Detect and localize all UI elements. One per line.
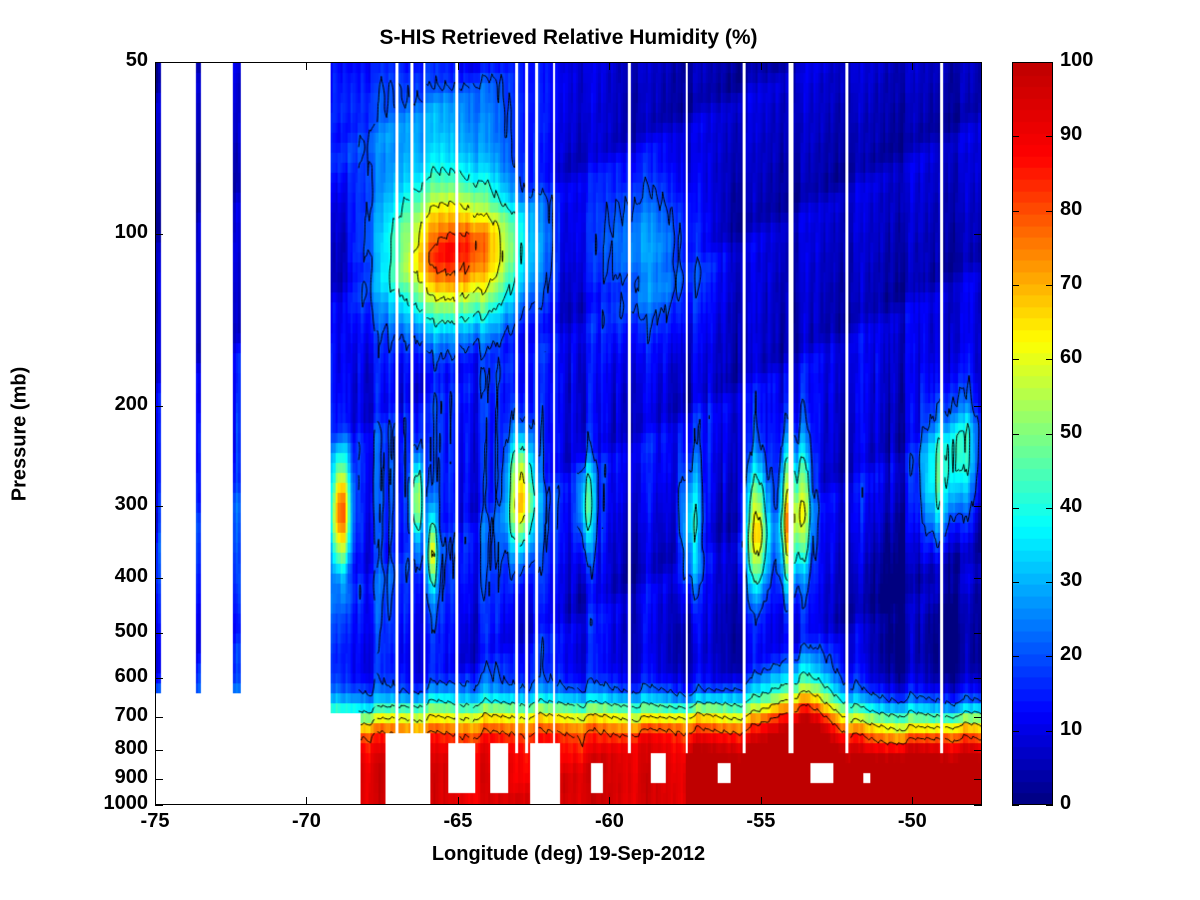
colorbar-tick-mark (1046, 731, 1053, 732)
y-tick-mark (155, 633, 163, 634)
x-tick-mark (155, 797, 156, 805)
colorbar-tick-mark (1012, 136, 1019, 137)
y-tick-mark (155, 506, 163, 507)
y-tick-label: 600 (28, 665, 148, 688)
x-tick-label: -65 (408, 810, 508, 833)
colorbar-tick-label: 70 (1060, 272, 1082, 295)
x-axis-label: Longitude (deg) 19-Sep-2012 (155, 843, 982, 866)
y-axis-label: Pressure (mb) (9, 367, 32, 502)
colorbar-tick-mark (1046, 285, 1053, 286)
x-tick-mark (155, 62, 156, 70)
colorbar-tick-mark (1012, 656, 1019, 657)
x-tick-mark (912, 797, 913, 805)
colorbar-tick-mark (1012, 359, 1019, 360)
colorbar-tick-label: 20 (1060, 643, 1082, 666)
y-tick-mark (974, 406, 982, 407)
y-tick-mark (155, 62, 163, 63)
colorbar-tick-mark (1012, 582, 1019, 583)
colorbar-tick-mark (1046, 656, 1053, 657)
colorbar-tick-label: 0 (1060, 792, 1071, 815)
x-tick-label: -60 (559, 810, 659, 833)
y-tick-label: 200 (28, 393, 148, 416)
y-tick-label: 400 (28, 565, 148, 588)
y-tick-mark (974, 234, 982, 235)
y-tick-mark (974, 633, 982, 634)
plot-axes[interactable] (155, 62, 982, 805)
colorbar-tick-label: 40 (1060, 495, 1082, 518)
x-tick-mark (912, 62, 913, 70)
colorbar-tick-mark (1046, 582, 1053, 583)
x-tick-label: -50 (862, 810, 962, 833)
y-tick-mark (155, 678, 163, 679)
x-tick-mark (761, 62, 762, 70)
colorbar-tick-label: 60 (1060, 346, 1082, 369)
y-tick-mark (155, 750, 163, 751)
y-tick-label: 900 (28, 766, 148, 789)
y-tick-mark (974, 62, 982, 63)
x-tick-label: -75 (105, 810, 205, 833)
colorbar-tick-mark (1012, 508, 1019, 509)
x-tick-mark (458, 62, 459, 70)
y-tick-mark (974, 506, 982, 507)
y-tick-mark (974, 779, 982, 780)
colorbar-tick-mark (1046, 62, 1053, 63)
y-tick-mark (155, 805, 163, 806)
y-tick-label: 500 (28, 620, 148, 643)
x-tick-label: -55 (711, 810, 811, 833)
colorbar-tick-label: 90 (1060, 123, 1082, 146)
colorbar-tick-mark (1046, 805, 1053, 806)
y-tick-label: 700 (28, 704, 148, 727)
colorbar-tick-label: 50 (1060, 421, 1082, 444)
colorbar-tick-mark (1012, 285, 1019, 286)
colorbar-tick-mark (1046, 508, 1053, 509)
colorbar-tick-mark (1012, 434, 1019, 435)
y-tick-mark (155, 578, 163, 579)
y-tick-mark (974, 750, 982, 751)
figure-canvas: S-HIS Retrieved Relative Humidity (%) Pr… (0, 0, 1200, 900)
x-tick-mark (306, 797, 307, 805)
chart-title: S-HIS Retrieved Relative Humidity (%) (155, 26, 982, 50)
colorbar-tick-mark (1012, 211, 1019, 212)
x-tick-mark (458, 797, 459, 805)
y-tick-mark (974, 717, 982, 718)
colorbar-tick-mark (1012, 731, 1019, 732)
x-tick-label: -70 (256, 810, 356, 833)
y-tick-mark (974, 578, 982, 579)
y-tick-label: 300 (28, 493, 148, 516)
y-tick-mark (155, 717, 163, 718)
colorbar-tick-label: 10 (1060, 718, 1082, 741)
colorbar-tick-label: 100 (1060, 49, 1093, 72)
y-tick-label: 800 (28, 737, 148, 760)
colorbar-tick-mark (1012, 805, 1019, 806)
colorbar-tick-mark (1046, 211, 1053, 212)
colorbar-tick-mark (1046, 434, 1053, 435)
y-tick-label: 100 (28, 221, 148, 244)
heatmap-canvas (156, 63, 981, 804)
colorbar-tick-label: 80 (1060, 198, 1082, 221)
x-tick-mark (761, 797, 762, 805)
y-tick-mark (155, 406, 163, 407)
y-tick-mark (155, 779, 163, 780)
colorbar-tick-mark (1046, 136, 1053, 137)
x-tick-mark (609, 62, 610, 70)
y-tick-mark (974, 805, 982, 806)
colorbar-tick-mark (1012, 62, 1019, 63)
y-tick-mark (974, 678, 982, 679)
y-tick-mark (155, 234, 163, 235)
colorbar-tick-mark (1046, 359, 1053, 360)
colorbar-tick-label: 30 (1060, 569, 1082, 592)
x-tick-mark (609, 797, 610, 805)
x-tick-mark (306, 62, 307, 70)
y-tick-label: 50 (28, 49, 148, 72)
